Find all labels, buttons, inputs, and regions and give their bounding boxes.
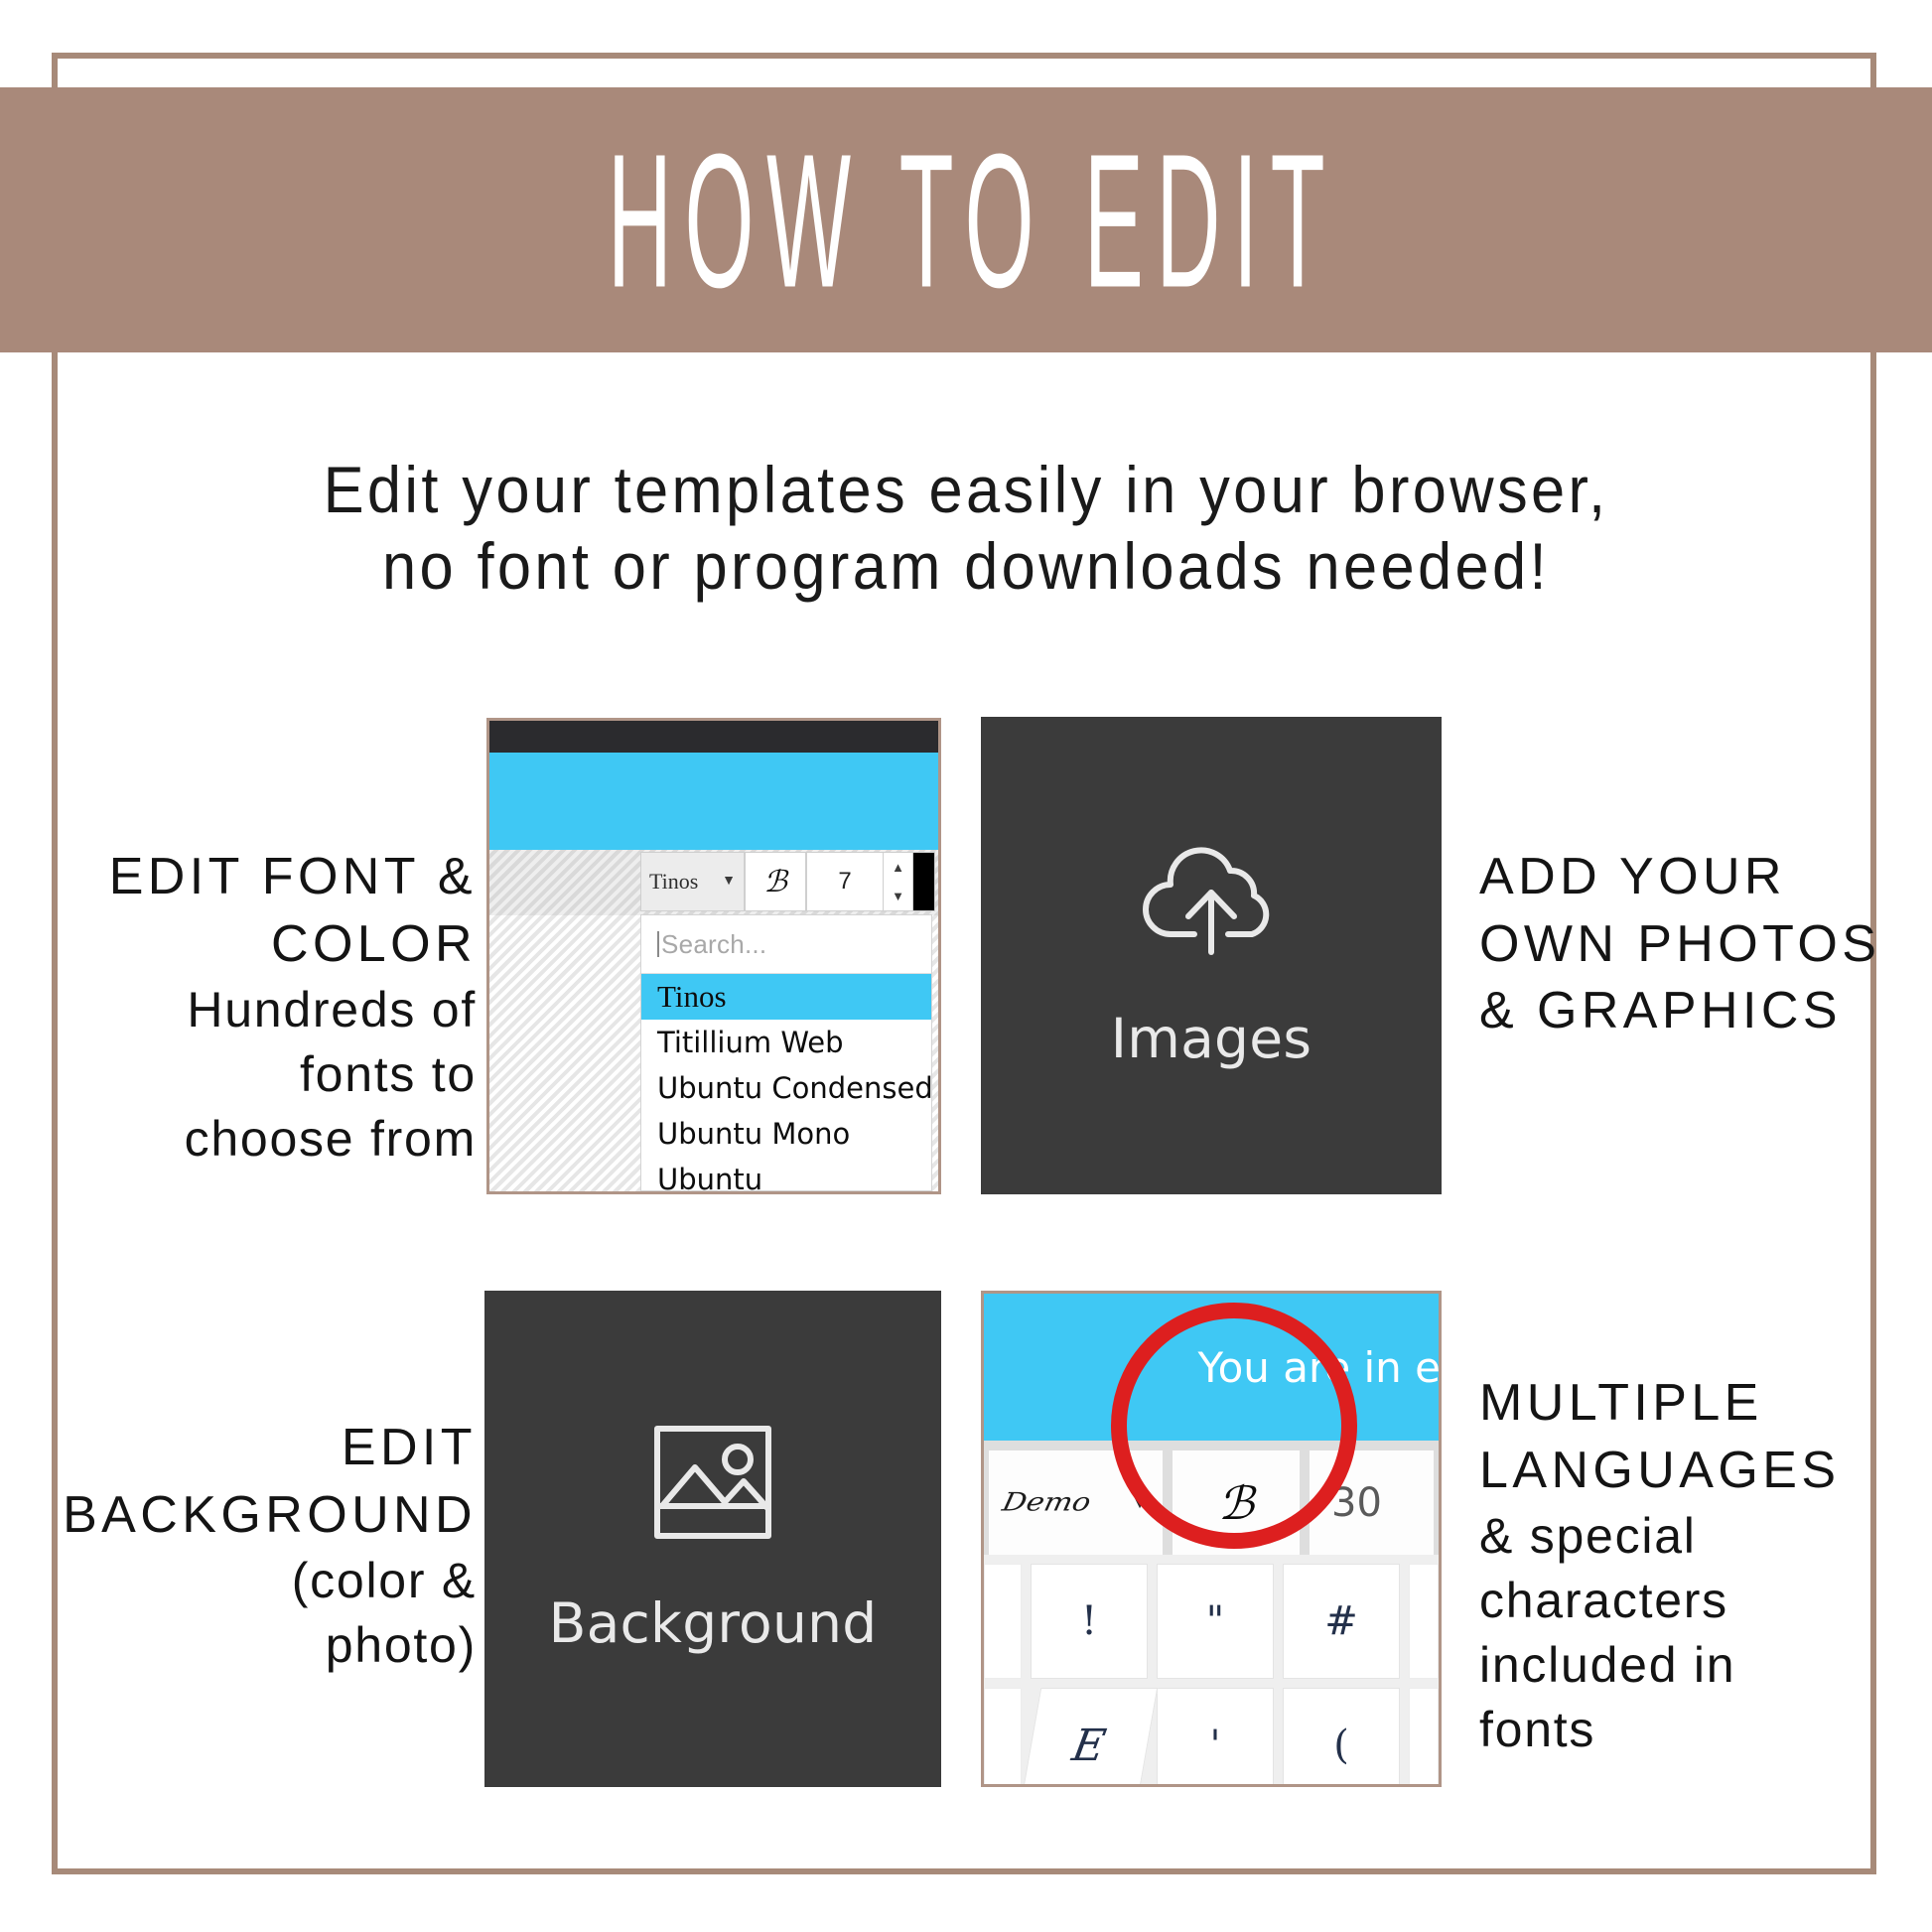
tile-images[interactable]: Images: [981, 717, 1442, 1194]
editor-banner: You are in e: [984, 1294, 1439, 1441]
caption-line: & GRAPHICS: [1479, 978, 1896, 1045]
char-cell[interactable]: E: [1021, 1688, 1158, 1787]
char-cell[interactable]: (: [1283, 1688, 1400, 1787]
font-size-value: 7: [838, 868, 851, 896]
caption-line: choose from: [60, 1107, 477, 1172]
caption-line: ADD YOUR: [1479, 844, 1896, 911]
font-size-stepper[interactable]: ▲ ▼: [884, 852, 913, 911]
caption-line: Hundreds of: [60, 978, 477, 1042]
font-option-label: Tinos: [657, 979, 727, 1015]
caption-line: characters: [1479, 1569, 1896, 1633]
char-cell[interactable]: ': [1157, 1688, 1274, 1787]
caption-multiple-languages: MULTIPLE LANGUAGES & special characters …: [1479, 1370, 1896, 1762]
font-option-label: Ubuntu Mono: [657, 1117, 850, 1151]
char-cell[interactable]: [1409, 1564, 1439, 1679]
font-option-label: Titillium Web: [657, 1026, 844, 1059]
text-caret: [657, 931, 659, 957]
editor-banner: [489, 753, 938, 850]
font-option-ubuntu-condensed[interactable]: Ubuntu Condensed: [641, 1065, 931, 1111]
caption-line: (color &: [60, 1549, 477, 1613]
char-cell[interactable]: [984, 1564, 1022, 1679]
tile-label: Background: [549, 1591, 878, 1655]
editor-titlebar: [489, 721, 938, 753]
caption-line: OWN PHOTOS: [1479, 911, 1896, 979]
font-size-input[interactable]: 30: [1310, 1450, 1434, 1555]
caption-line: EDIT FONT &: [60, 844, 477, 911]
stepper-up-icon[interactable]: ▲: [892, 861, 904, 874]
subtitle: Edit your templates easily in your brows…: [179, 452, 1754, 604]
font-style-button[interactable]: ℬ: [745, 852, 806, 911]
font-family-dropdown[interactable]: Tinos ▼: [640, 852, 745, 911]
script-a-icon: ℬ: [763, 865, 787, 899]
font-size-value: 30: [1331, 1480, 1382, 1526]
char-cell[interactable]: !: [1031, 1564, 1148, 1679]
font-family-value: Tinos: [649, 869, 698, 895]
font-option-ubuntu[interactable]: Ubuntu: [641, 1157, 931, 1191]
font-size-input[interactable]: 7: [806, 852, 884, 911]
caption-line: photo): [60, 1613, 477, 1678]
font-list-dropdown[interactable]: Search... Tinos Titillium Web Ubuntu Con…: [640, 914, 932, 1191]
caption-line: fonts: [1479, 1698, 1896, 1762]
stepper-down-icon[interactable]: ▼: [892, 890, 904, 902]
screenshot-special-characters: You are in e Demo ▼ ℬ 30 ! " # E ' (: [981, 1291, 1442, 1787]
caption-line: included in: [1479, 1633, 1896, 1698]
header-band: HOW TO EDIT: [0, 87, 1932, 352]
subtitle-line-2: no font or program downloads needed!: [179, 528, 1754, 605]
caption-line: MULTIPLE: [1479, 1370, 1896, 1438]
screenshot-font-picker: Tinos ▼ ℬ 7 ▲ ▼ Search... Tinos Titilliu…: [486, 718, 941, 1194]
font-option-titillium-web[interactable]: Titillium Web: [641, 1020, 931, 1065]
character-grid[interactable]: ! " # E ' (: [984, 1555, 1439, 1784]
cloud-upload-icon: [1137, 841, 1286, 961]
picture-icon: [652, 1424, 773, 1546]
chevron-down-icon: ▼: [1131, 1492, 1149, 1513]
text-color-swatch[interactable]: [913, 852, 935, 911]
font-option-label: Ubuntu Condensed: [657, 1071, 932, 1105]
char-cell[interactable]: [984, 1688, 1022, 1787]
font-style-button[interactable]: ℬ: [1173, 1450, 1300, 1555]
caption-line: BACKGROUND: [60, 1482, 477, 1550]
tile-background[interactable]: Background: [484, 1291, 941, 1787]
banner-text: You are in e: [1198, 1343, 1443, 1392]
font-search-input[interactable]: Search...: [641, 915, 931, 974]
font-toolbar: Tinos ▼ ℬ 7 ▲ ▼: [640, 852, 935, 911]
char-cell[interactable]: #: [1283, 1564, 1400, 1679]
caption-line: & special: [1479, 1504, 1896, 1569]
chevron-down-icon: ▼: [722, 874, 736, 890]
subtitle-line-1: Edit your templates easily in your brows…: [179, 452, 1754, 528]
caption-edit-background: EDIT BACKGROUND (color & photo): [60, 1415, 477, 1678]
font-option-tinos[interactable]: Tinos: [641, 974, 931, 1020]
page-title: HOW TO EDIT: [595, 125, 1337, 316]
caption-line: COLOR: [60, 911, 477, 979]
script-a-icon: ℬ: [1218, 1476, 1254, 1530]
char-cell[interactable]: [1409, 1688, 1439, 1787]
font-search-placeholder: Search...: [661, 929, 766, 960]
char-cell[interactable]: ": [1157, 1564, 1274, 1679]
tile-label: Images: [1111, 1007, 1312, 1070]
font-family-dropdown[interactable]: Demo ▼: [989, 1450, 1163, 1555]
font-family-value: Demo: [1000, 1488, 1094, 1518]
caption-add-photos: ADD YOUR OWN PHOTOS & GRAPHICS: [1479, 844, 1896, 1045]
font-option-label: Ubuntu: [657, 1163, 762, 1191]
char-toolbar: Demo ▼ ℬ 30: [984, 1441, 1439, 1555]
caption-line: fonts to: [60, 1042, 477, 1107]
caption-edit-font-color: EDIT FONT & COLOR Hundreds of fonts to c…: [60, 844, 477, 1172]
font-option-ubuntu-mono[interactable]: Ubuntu Mono: [641, 1111, 931, 1157]
caption-line: LANGUAGES: [1479, 1438, 1896, 1505]
caption-line: EDIT: [60, 1415, 477, 1482]
